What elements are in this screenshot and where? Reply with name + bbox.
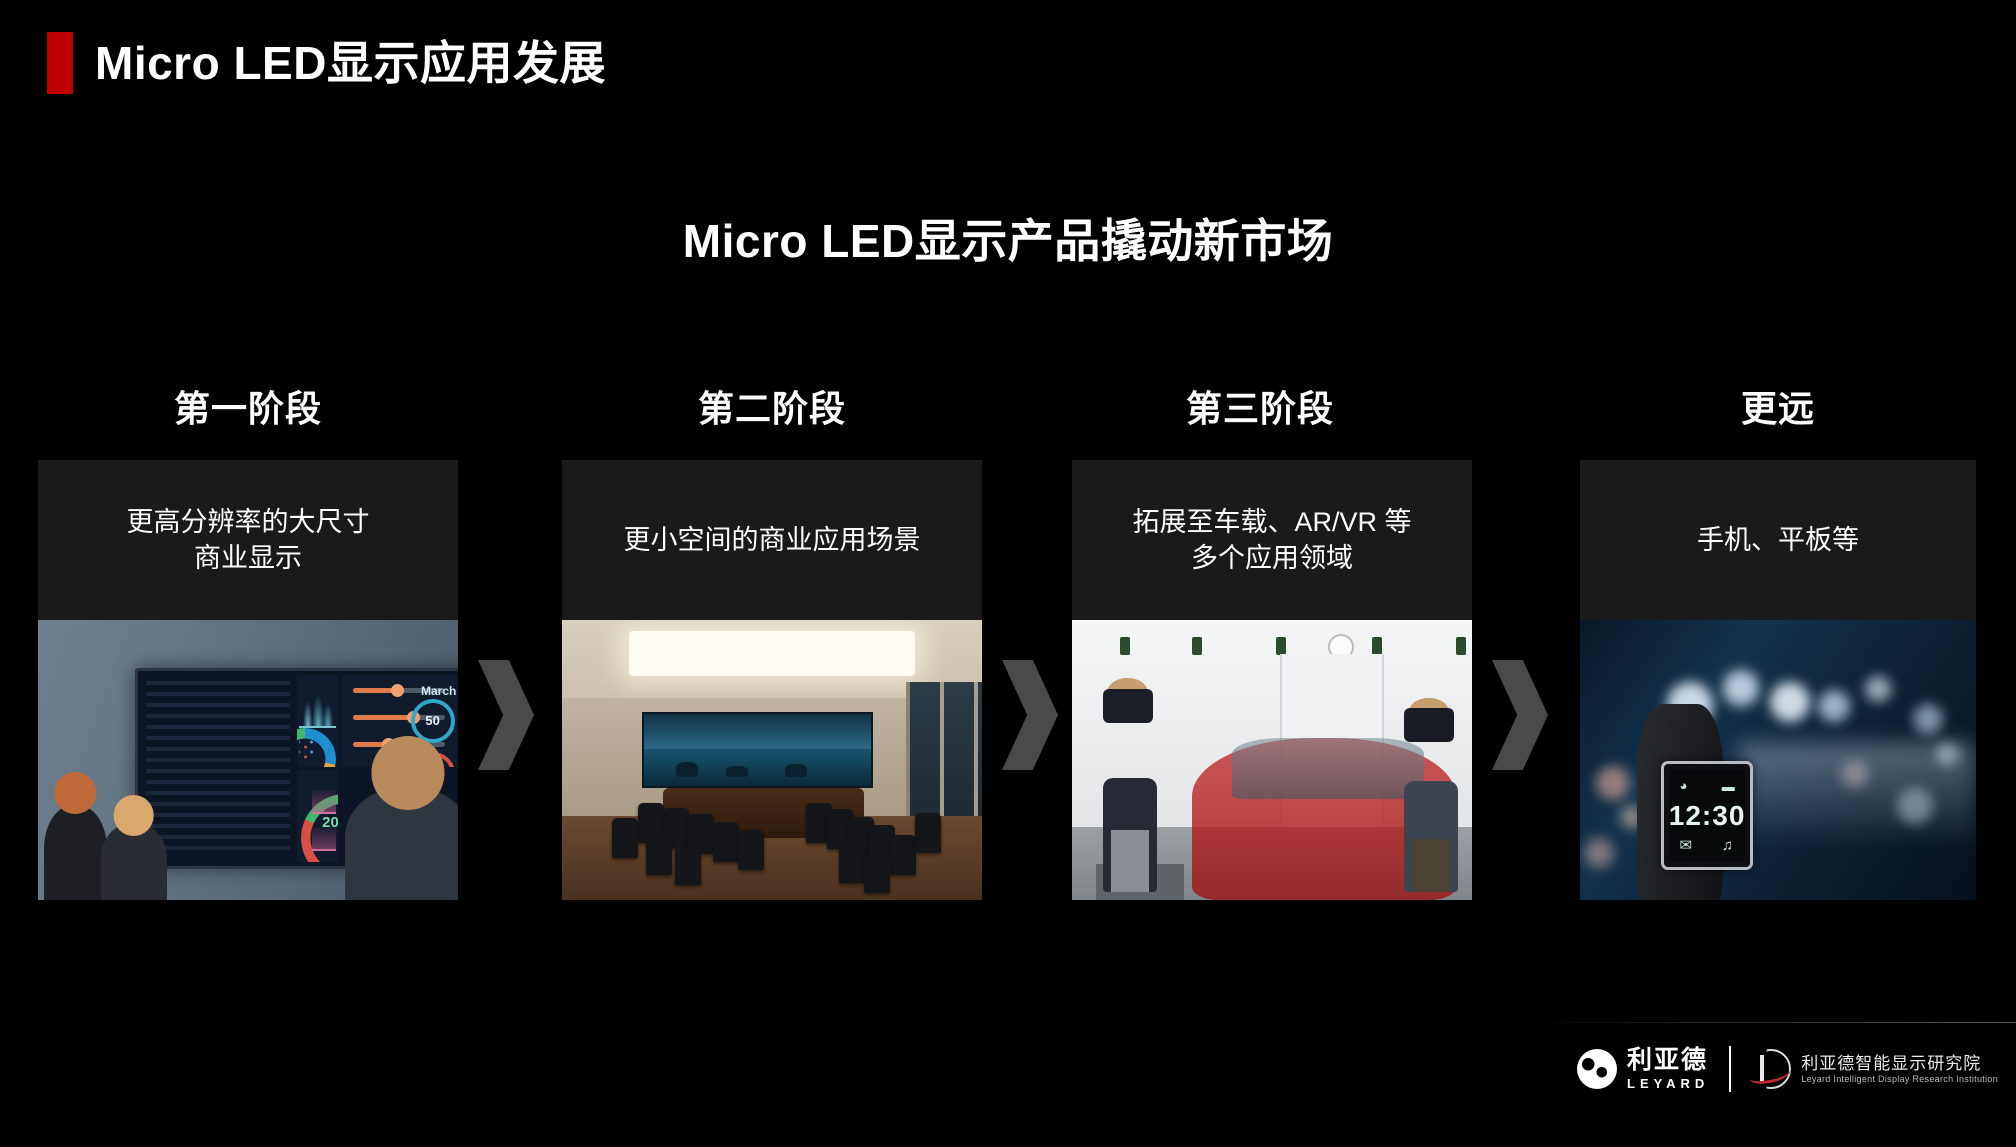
watch-time: 12:30 xyxy=(1669,800,1746,832)
envelope-icon: ✉ xyxy=(1679,836,1692,854)
leyard-logo: 利亚德 LEYARD xyxy=(1577,1048,1709,1090)
institute-mark-icon xyxy=(1751,1049,1791,1089)
stage-caption-3-line1: 拓展至车载、AR/VR 等 xyxy=(1132,507,1411,537)
institute-name-cn: 利亚德智能显示研究院 xyxy=(1801,1054,1998,1074)
stage-caption-2: 更小空间的商业应用场景 xyxy=(562,460,982,620)
slide-header: Micro LED显示应用发展 xyxy=(47,32,606,94)
gauge-value: 50 xyxy=(411,699,455,743)
stage-label-4: 更远 xyxy=(1580,380,1976,432)
stage-caption-2-line1: 更小空间的商业应用场景 xyxy=(624,525,921,555)
stage-caption-1-line1: 更高分辨率的大尺寸 xyxy=(127,507,370,537)
footer-logo-divider xyxy=(1729,1046,1731,1092)
chevron-right-icon-3 xyxy=(1492,660,1548,770)
stage-caption-4: 手机、平板等 xyxy=(1580,460,1976,620)
footer-logos: 利亚德 LEYARD 利亚德智能显示研究院 Leyard Intelligent… xyxy=(1577,1046,1998,1092)
wifi-icon: ◕ xyxy=(1679,778,1687,793)
smartwatch-bokeh-photo: ◕ ▬ 12:30 ✉ ♫ xyxy=(1580,620,1976,900)
slide-root: Micro LED显示应用发展 Micro LED显示产品撬动新市场 第一阶段 … xyxy=(0,0,2016,1147)
institute-logo: 利亚德智能显示研究院 Leyard Intelligent Display Re… xyxy=(1751,1049,1998,1089)
footer-divider-line xyxy=(1520,1022,2016,1023)
leyard-mark-icon xyxy=(1577,1049,1617,1089)
stage-card-1: 更高分辨率的大尺寸 商业显示 xyxy=(38,460,458,900)
music-note-icon: ♫ xyxy=(1722,837,1733,854)
large-format-commercial-display-photo: 50 50 30 25 March 200.34 xyxy=(38,620,458,900)
stage-card-4: 手机、平板等 xyxy=(1580,460,1976,900)
stage-caption-4-line1: 手机、平板等 xyxy=(1697,525,1859,555)
stage-label-3: 第三阶段 xyxy=(1060,380,1460,432)
leyard-brand-en: LEYARD xyxy=(1627,1077,1709,1090)
stage-caption-1-line2: 商业显示 xyxy=(194,543,302,573)
stage-caption-1: 更高分辨率的大尺寸 商业显示 xyxy=(38,460,458,620)
stage-card-2: 更小空间的商业应用场景 xyxy=(562,460,982,900)
stage-track: 第一阶段 更高分辨率的大尺寸 商业显示 xyxy=(0,380,2016,900)
page-title: Micro LED显示应用发展 xyxy=(95,40,606,86)
chevron-right-icon-2 xyxy=(1002,660,1058,770)
stage-caption-3: 拓展至车载、AR/VR 等 多个应用领域 xyxy=(1072,460,1472,620)
chevron-right-icon-1 xyxy=(478,660,534,770)
stage-caption-3-line2: 多个应用领域 xyxy=(1191,543,1353,573)
leyard-brand-cn: 利亚德 xyxy=(1627,1048,1709,1073)
header-accent-bar xyxy=(47,32,73,94)
battery-icon: ▬ xyxy=(1722,779,1735,794)
conference-room-led-wall-photo xyxy=(562,620,982,900)
dashboard-month-label: March xyxy=(421,684,456,698)
main-heading: Micro LED显示产品撬动新市场 xyxy=(0,205,2016,271)
stage-card-3: 拓展至车载、AR/VR 等 多个应用领域 xyxy=(1072,460,1472,900)
institute-name-en: Leyard Intelligent Display Research Inst… xyxy=(1801,1074,1998,1084)
stage-label-1: 第一阶段 xyxy=(38,380,458,432)
stage-label-2: 第二阶段 xyxy=(562,380,982,432)
vr-automotive-lab-photo xyxy=(1072,620,1472,900)
